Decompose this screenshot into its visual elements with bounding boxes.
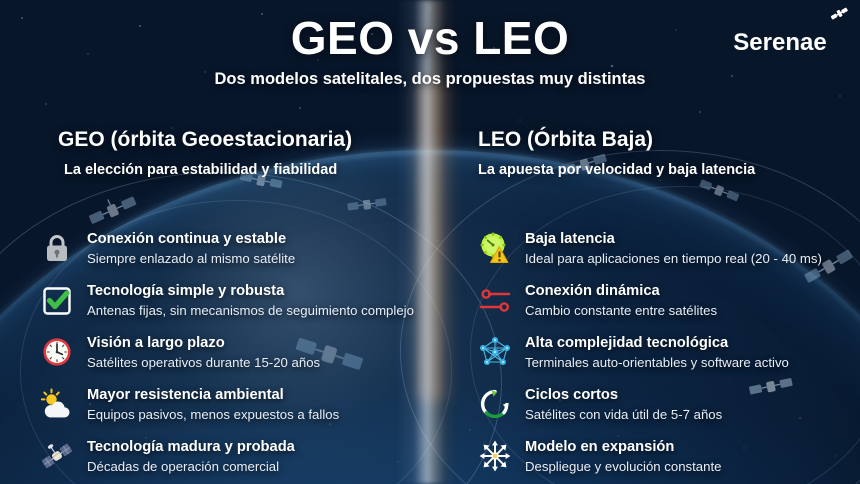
list-item-text: Conexión continua y estable Siempre enla… (87, 230, 295, 268)
checkbox-check-icon (40, 283, 74, 317)
list-item-title: Baja latencia (525, 230, 822, 248)
column-leo-title: LEO (Órbita Baja) (478, 128, 850, 152)
list-item-text: Alta complejidad tecnológica Terminales … (525, 334, 789, 372)
list-item-text: Ciclos cortos Satélites con vida útil de… (525, 386, 722, 424)
list-item[interactable]: Conexión continua y estable Siempre enla… (40, 230, 414, 272)
list-item[interactable]: Alta complejidad tecnológica Terminales … (478, 334, 850, 376)
page-title: GEO vs LEO (0, 14, 860, 62)
list-item-desc: Antenas fijas, sin mecanismos de seguimi… (87, 302, 414, 319)
list-item-title: Conexión continua y estable (87, 230, 295, 248)
page-subtitle: Dos modelos satelitales, dos propuestas … (0, 70, 860, 89)
list-item-text: Modelo en expansión Despliegue y evoluci… (525, 438, 721, 476)
list-item-text: Visión a largo plazo Satélites operativo… (87, 334, 320, 372)
list-item-title: Modelo en expansión (525, 438, 721, 456)
list-item-desc: Cambio constante entre satélites (525, 302, 717, 319)
clock-icon (40, 335, 74, 369)
handoff-link-icon (478, 283, 512, 317)
list-item-text: Tecnología simple y robusta Antenas fija… (87, 282, 414, 320)
list-item-text: Tecnología madura y probada Décadas de o… (87, 438, 295, 476)
column-geo-subtitle: La elección para estabilidad y fiabilida… (40, 162, 414, 178)
sun-behind-cloud-icon (40, 387, 74, 421)
column-geo: GEO (órbita Geoestacionaria) La elección… (0, 128, 430, 484)
list-item-title: Ciclos cortos (525, 386, 722, 404)
column-geo-title: GEO (órbita Geoestacionaria) (40, 128, 414, 152)
column-leo-subtitle: La apuesta por velocidad y baja latencia (478, 162, 850, 178)
list-item-desc: Equipos pasivos, menos expuestos a fallo… (87, 406, 339, 423)
list-item-text: Baja latencia Ideal para aplicaciones en… (525, 230, 822, 268)
column-leo-items: Baja latencia Ideal para aplicaciones en… (478, 230, 850, 480)
infographic-root: Serenae GEO vs LEO Dos modelos satelital… (0, 0, 860, 484)
list-item[interactable]: Mayor resistencia ambiental Equipos pasi… (40, 386, 414, 428)
column-geo-items: Conexión continua y estable Siempre enla… (40, 230, 414, 480)
list-item[interactable]: Tecnología madura y probada Décadas de o… (40, 438, 414, 480)
list-item-desc: Terminales auto-orientables y software a… (525, 354, 789, 371)
list-item-desc: Siempre enlazado al mismo satélite (87, 250, 295, 267)
expand-arrows-icon (478, 439, 512, 473)
list-item[interactable]: Ciclos cortos Satélites con vida útil de… (478, 386, 850, 428)
list-item-desc: Satélites con vida útil de 5-7 años (525, 406, 722, 423)
column-leo: LEO (Órbita Baja) La apuesta por velocid… (430, 128, 860, 484)
lock-icon (40, 231, 74, 265)
list-item[interactable]: Visión a largo plazo Satélites operativo… (40, 334, 414, 376)
list-item-desc: Ideal para aplicaciones en tiempo real (… (525, 250, 822, 267)
refresh-cycle-icon (478, 387, 512, 421)
list-item-title: Alta complejidad tecnológica (525, 334, 789, 352)
list-item[interactable]: Baja latencia Ideal para aplicaciones en… (478, 230, 850, 272)
list-item[interactable]: Modelo en expansión Despliegue y evoluci… (478, 438, 850, 480)
satellite-icon (40, 439, 74, 473)
network-nodes-icon (478, 335, 512, 369)
list-item-desc: Despliegue y evolución constante (525, 458, 721, 475)
header: GEO vs LEO Dos modelos satelitales, dos … (0, 14, 860, 89)
list-item-title: Tecnología madura y probada (87, 438, 295, 456)
list-item-title: Conexión dinámica (525, 282, 717, 300)
list-item-title: Visión a largo plazo (87, 334, 320, 352)
list-item[interactable]: Tecnología simple y robusta Antenas fija… (40, 282, 414, 324)
list-item-text: Conexión dinámica Cambio constante entre… (525, 282, 717, 320)
list-item-title: Mayor resistencia ambiental (87, 386, 339, 404)
list-item-title: Tecnología simple y robusta (87, 282, 414, 300)
list-item-desc: Décadas de operación comercial (87, 458, 295, 475)
list-item-desc: Satélites operativos durante 15-20 años (87, 354, 320, 371)
list-item-text: Mayor resistencia ambiental Equipos pasi… (87, 386, 339, 424)
gauge-warning-icon (478, 231, 512, 265)
comparison-columns: GEO (órbita Geoestacionaria) La elección… (0, 128, 860, 484)
list-item[interactable]: Conexión dinámica Cambio constante entre… (478, 282, 850, 324)
